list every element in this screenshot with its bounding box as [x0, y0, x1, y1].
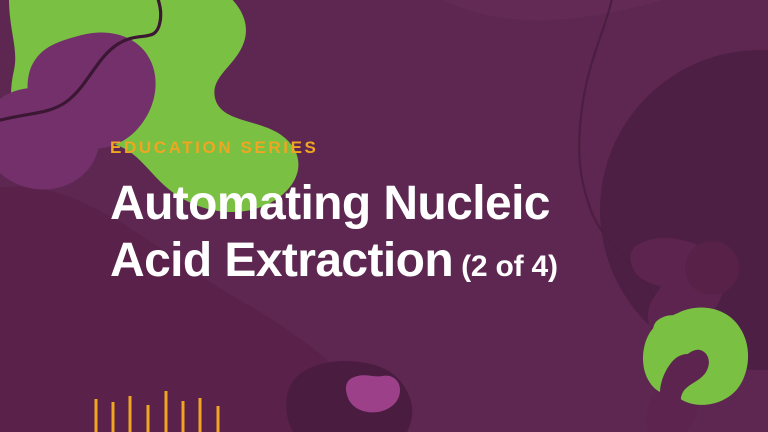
title-slide: EDUCATION SERIES Automating Nucleic Acid…: [0, 0, 768, 432]
page-title-line-2: Acid Extraction: [110, 234, 453, 287]
page-title-line-1: Automating Nucleic: [110, 176, 630, 233]
page-title-line-2-wrap: Acid Extraction(2 of 4): [110, 233, 630, 290]
page-title: Automating Nucleic Acid Extraction(2 of …: [110, 176, 630, 289]
series-eyebrow: EDUCATION SERIES: [110, 138, 710, 158]
slide-content: EDUCATION SERIES Automating Nucleic Acid…: [110, 138, 710, 290]
part-counter: (2 of 4): [453, 250, 558, 283]
